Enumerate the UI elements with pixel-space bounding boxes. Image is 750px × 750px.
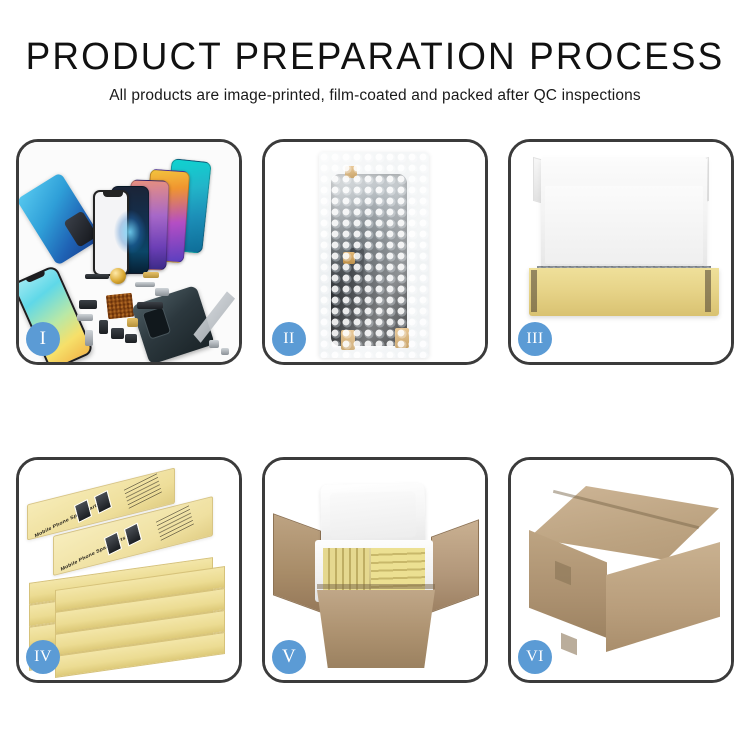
page-header: PRODUCT PREPARATION PROCESS All products… — [0, 0, 750, 105]
step-panel-2[interactable]: II — [262, 139, 488, 365]
box-label-phone-image — [104, 531, 122, 555]
step-panel-4[interactable]: Mobile Phone Spare Parts Mobile Phone Sp… — [16, 457, 242, 683]
plastic-sheen — [319, 152, 429, 358]
foam-sheet — [545, 186, 703, 264]
box-label-spec-lines — [156, 505, 194, 541]
page-title: PRODUCT PREPARATION PROCESS — [11, 38, 739, 78]
spare-part — [77, 314, 93, 321]
copper-chip — [106, 293, 134, 320]
phone-glass-panel — [93, 190, 129, 276]
carton-front-panel — [309, 590, 443, 668]
step-panel-6[interactable]: VI — [508, 457, 734, 683]
spare-part — [79, 300, 97, 309]
box-label-phone-image — [124, 522, 142, 546]
carton-edge — [317, 584, 435, 589]
spare-part — [221, 348, 229, 355]
step-badge-1: I — [26, 322, 60, 356]
spare-part — [99, 320, 108, 334]
spare-part — [111, 328, 124, 339]
spare-part — [155, 288, 169, 296]
box-label-phone-image — [94, 490, 112, 514]
box-label-spec-lines — [124, 473, 162, 509]
process-steps-grid: I II — [16, 139, 735, 683]
step-panel-5[interactable]: V — [262, 457, 488, 683]
bubble-wrap-package — [319, 152, 429, 358]
step-badge-6: VI — [518, 640, 552, 674]
box-corner — [531, 270, 537, 312]
spare-part — [127, 318, 138, 327]
spare-part — [209, 340, 219, 348]
spare-part — [135, 282, 155, 287]
spare-part — [125, 334, 137, 343]
step-badge-2: II — [272, 322, 306, 356]
carton-flap-left — [273, 513, 321, 612]
camera-lens-icon — [110, 268, 126, 284]
step-badge-4: IV — [26, 640, 60, 674]
step-badge-3: III — [518, 322, 552, 356]
page-subtitle: All products are image-printed, film-coa… — [0, 87, 750, 105]
spare-part — [85, 274, 109, 279]
step-panel-1[interactable]: I — [16, 139, 242, 365]
box-corner — [705, 270, 711, 312]
spare-part — [143, 272, 159, 278]
step-badge-5: V — [272, 640, 306, 674]
spare-part — [137, 302, 163, 309]
spare-part — [85, 330, 93, 346]
yellow-box-body — [529, 268, 719, 316]
box-label-phone-image — [74, 499, 92, 523]
step-panel-3[interactable]: III — [508, 139, 734, 365]
